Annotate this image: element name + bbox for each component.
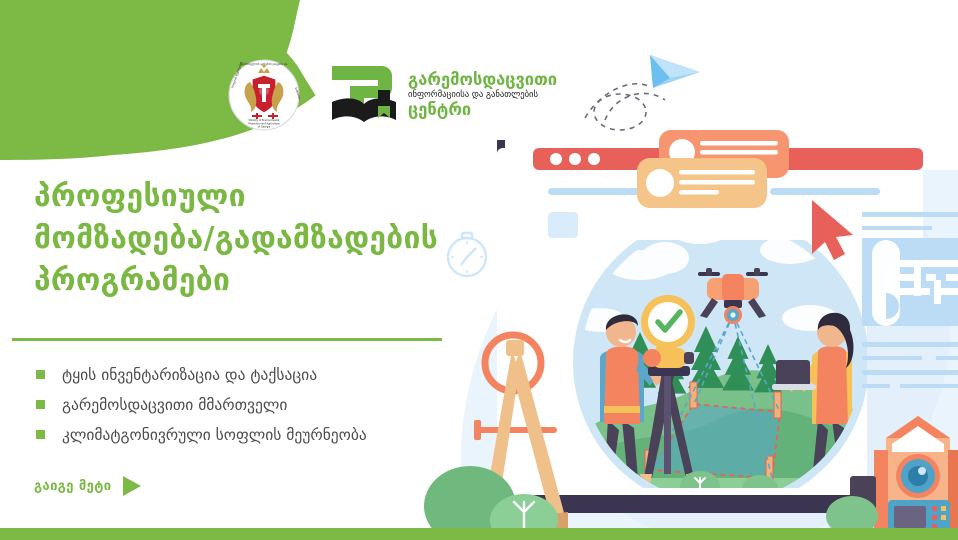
page-title: პროფესიული მომზადება/გადამზადების პროგრა… (34, 176, 464, 302)
list-item[interactable]: კლიმატგონივრული სოფლის მეურნეობა (36, 422, 476, 447)
learn-more-button[interactable]: გაიგე მეტი (34, 476, 141, 496)
title-line-2: მომზადება/გადამზადების (34, 218, 464, 260)
title-line-3: პროგრამები (34, 260, 464, 302)
list-item-label: გარემოსდაცვითი მმართველი (62, 396, 287, 414)
bullet-square-icon (36, 370, 45, 379)
bottom-accent-bar (0, 528, 958, 540)
organization-logo: გარემოსდაცვითი ინფორმაციისა და განათლები… (326, 62, 557, 128)
georgia-ministry-emblem: საქართველოს გარემოს დაცვისა და სოფლის მე… (228, 58, 300, 136)
book-mark-logo (326, 62, 398, 128)
slide-root: საქართველოს გარემოს დაცვისა და სოფლის მე… (0, 0, 958, 540)
logo-line-1: გარემოსდაცვითი (408, 71, 557, 88)
list-item-label: კლიმატგონივრული სოფლის მეურნეობა (62, 426, 367, 444)
title-divider (12, 338, 442, 341)
list-item[interactable]: გარემოსდაცვითი მმართველი (36, 392, 476, 417)
title-line-1: პროფესიული (34, 176, 464, 218)
list-item[interactable]: ტყის ინვენტარიზაცია და ტაქსაცია (36, 362, 476, 387)
play-triangle-icon (123, 476, 141, 496)
svg-text:of Georgia: of Georgia (258, 126, 271, 129)
program-list: ტყის ინვენტარიზაცია და ტაქსაცია გარემოსდ… (36, 362, 476, 452)
logo-line-3: ცენტრი (408, 101, 557, 118)
learn-more-label: გაიგე მეტი (34, 479, 111, 494)
bullet-square-icon (36, 430, 45, 439)
bullet-square-icon (36, 400, 45, 409)
notification-card (637, 158, 767, 208)
list-item-label: ტყის ინვენტარიზაცია და ტაქსაცია (62, 366, 317, 384)
